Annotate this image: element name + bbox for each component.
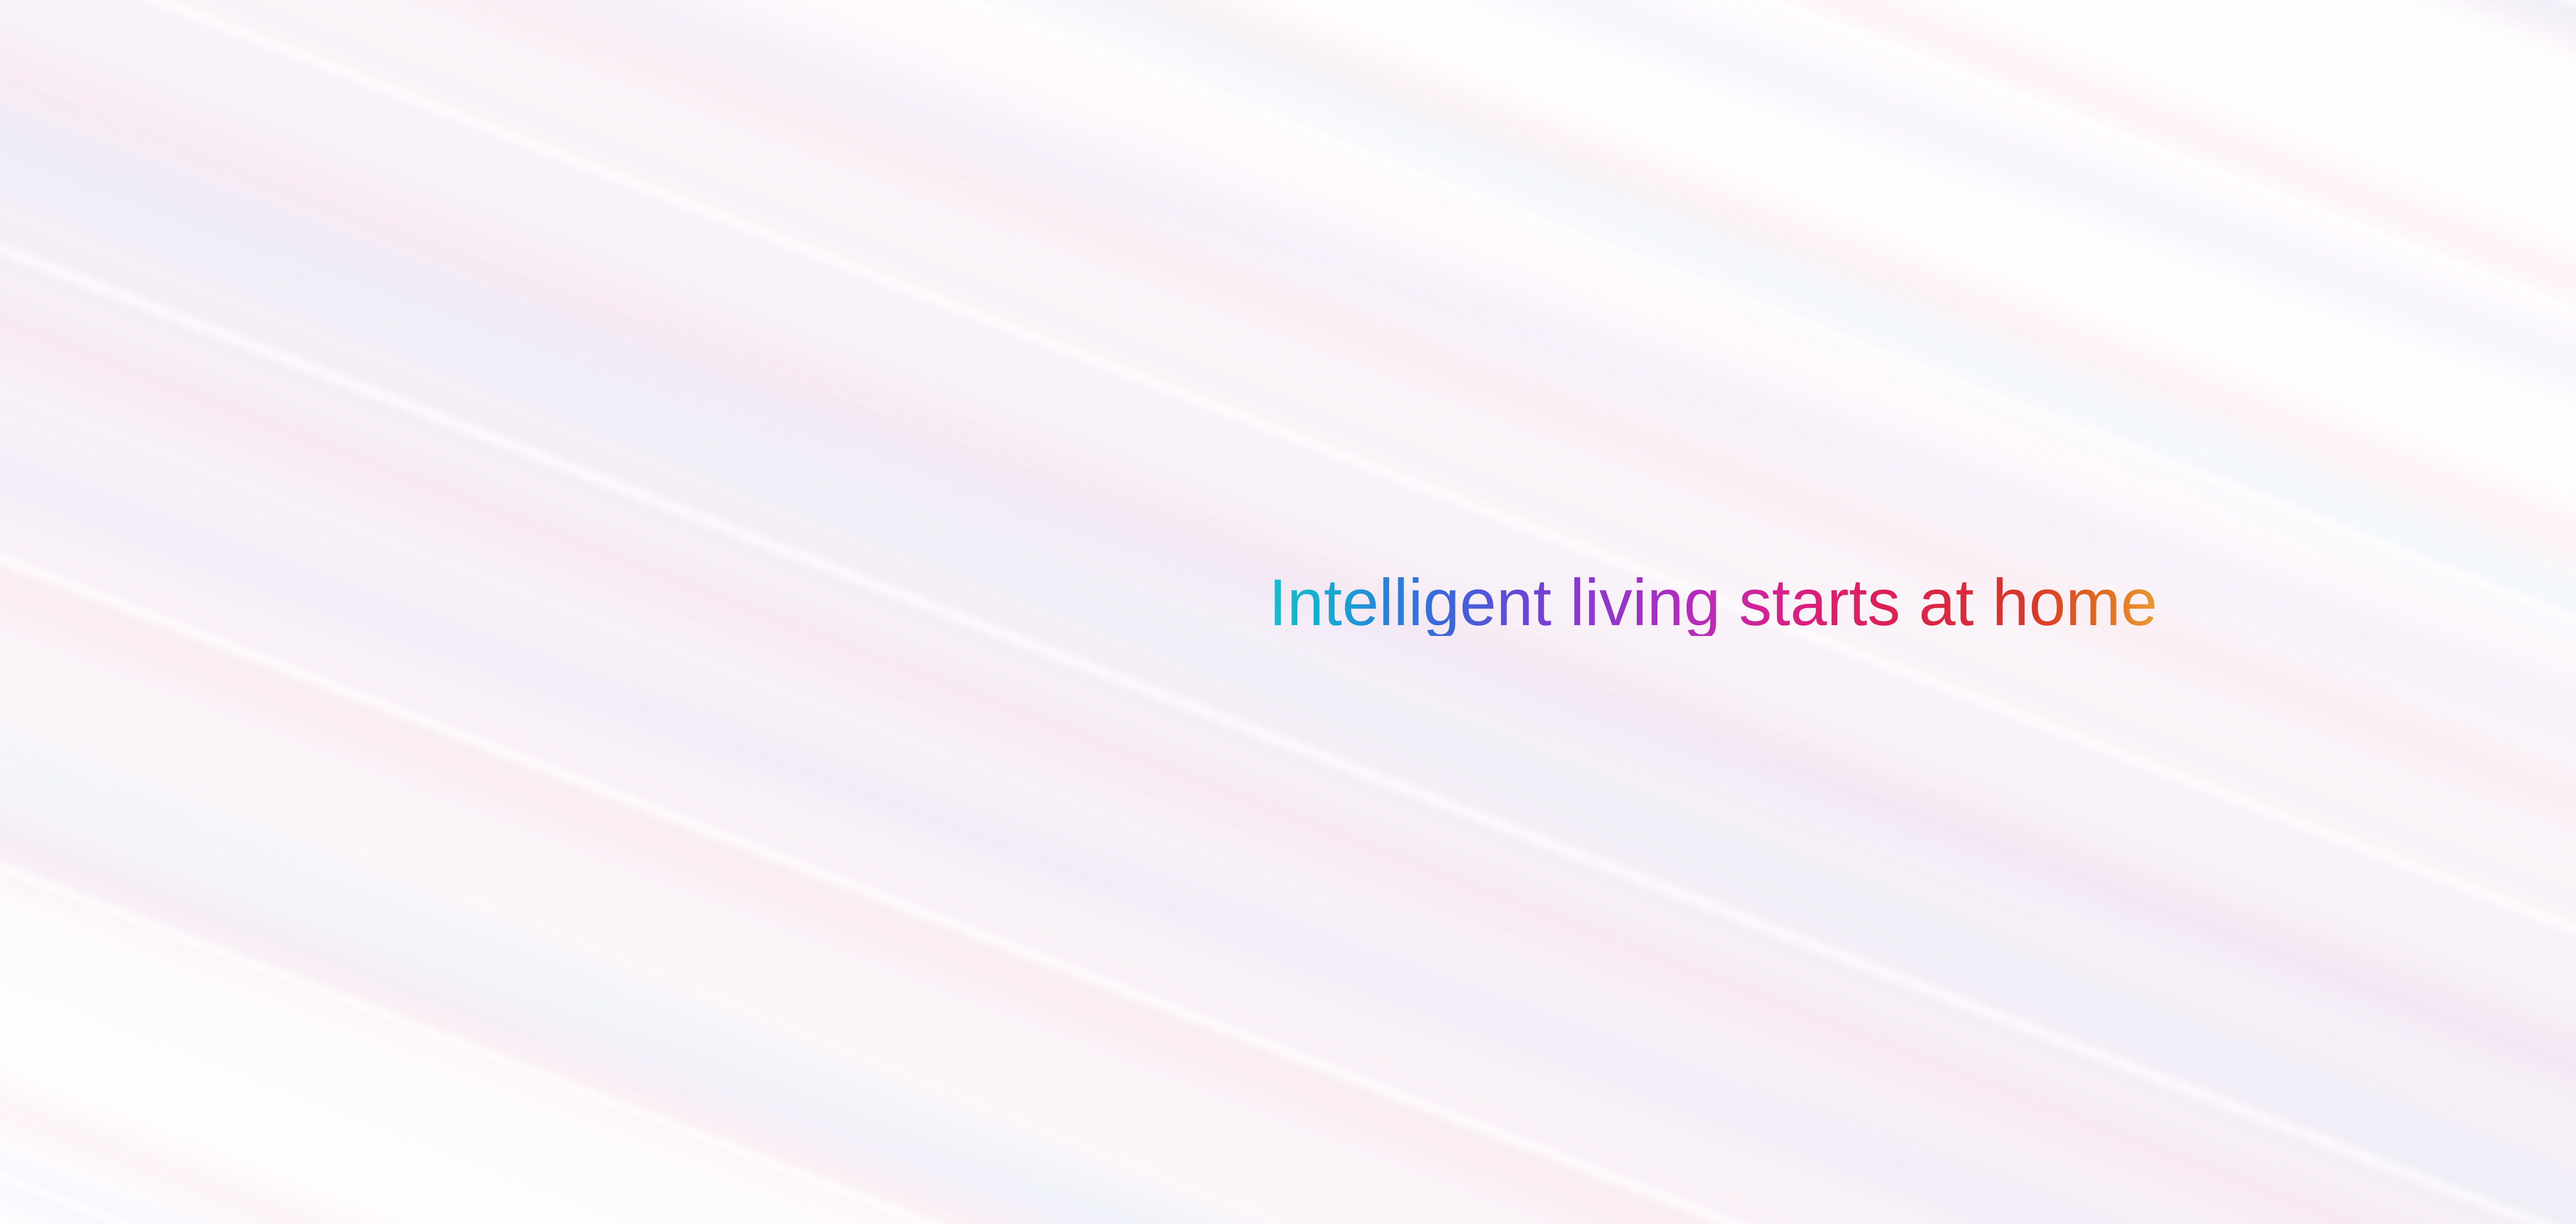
headline-container: Intelligent living starts at home bbox=[0, 526, 2576, 680]
hero-banner: Intelligent living starts at home bbox=[0, 0, 2576, 1224]
hero-headline: Intelligent living starts at home bbox=[1268, 570, 2157, 636]
